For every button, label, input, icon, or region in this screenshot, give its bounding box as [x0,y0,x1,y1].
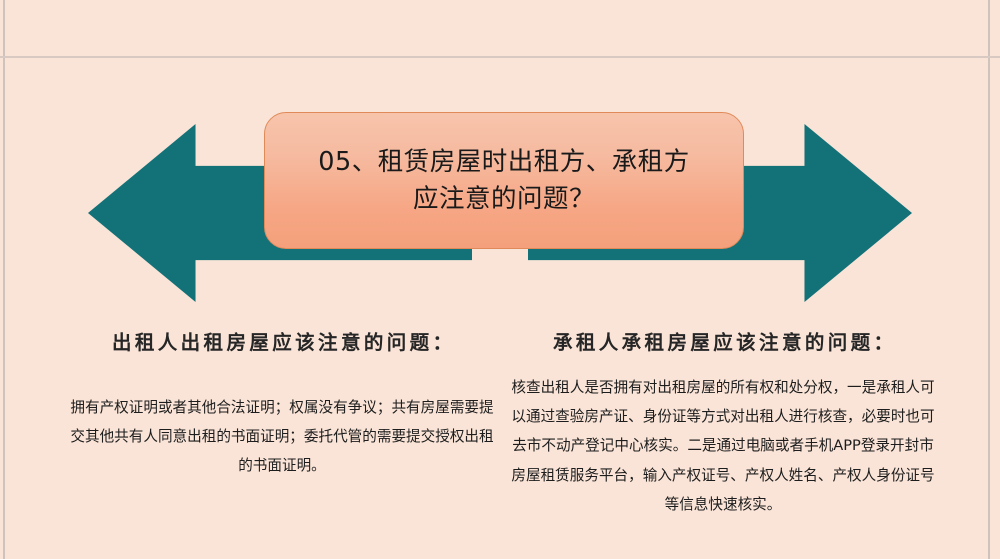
slide-canvas: 05、租赁房屋时出租方、承租方 应注意的问题？ 出租人出租房屋应该注意的问题： … [0,0,1000,559]
frame-line-left [3,0,5,559]
question-title: 05、租赁房屋时出租方、承租方 应注意的问题？ [318,144,689,216]
lessor-body: 拥有产权证明或者其他合法证明；权属没有争议；共有房屋需要提交其他共有人同意出租的… [62,393,502,481]
column-lessor: 出租人出租房屋应该注意的问题： 拥有产权证明或者其他合法证明；权属没有争议；共有… [62,326,502,481]
column-lessee: 承租人承租房屋应该注意的问题： 核查出租人是否拥有对出租房屋的所有权和处分权，一… [503,326,943,519]
header-divider [0,56,1000,58]
lessee-heading: 承租人承租房屋应该注意的问题： [503,326,943,355]
lessee-body: 核查出租人是否拥有对出租房屋的所有权和处分权，一是承租人可以通过查验房产证、身份… [503,373,943,519]
frame-line-right [988,0,990,559]
question-callout: 05、租赁房屋时出租方、承租方 应注意的问题？ [264,112,744,249]
lessor-heading: 出租人出租房屋应该注意的问题： [62,326,502,355]
